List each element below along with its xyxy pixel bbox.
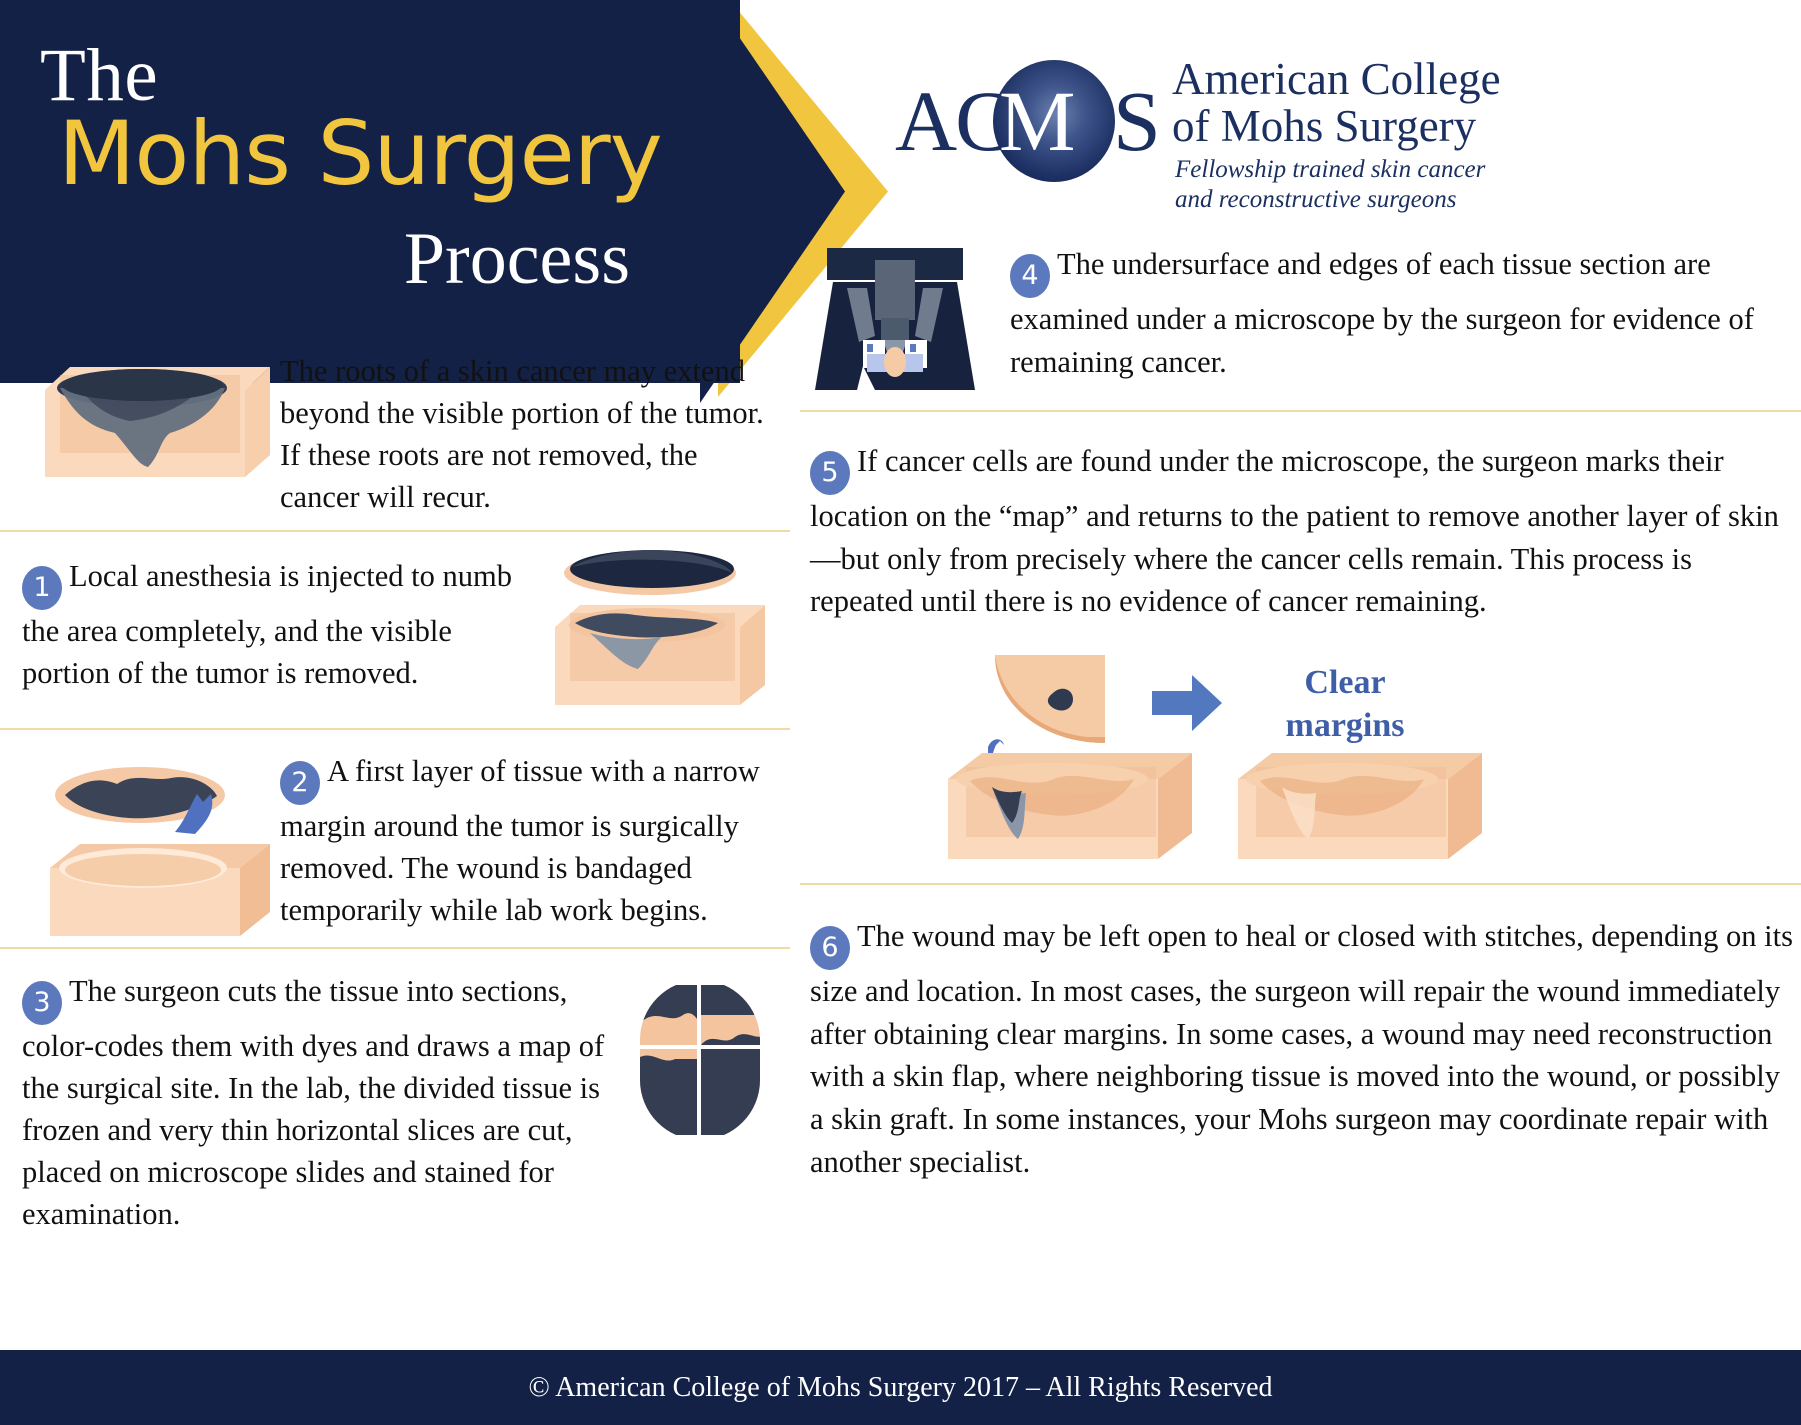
tumor-roots-illustration [20,355,270,485]
logo-tagline: Fellowship trained skin cancer and recon… [1175,155,1485,214]
footer-copyright: © American College of Mohs Surgery 2017 … [528,1372,1272,1404]
step-6-text: The wound may be left open to heal or cl… [810,919,1793,1179]
step-3-number-badge: 3 [22,981,62,1025]
skin-block-with-cancer-illustration [930,735,1200,865]
step-2-illustration [25,750,270,940]
step-1-text-wrap: 1Local anesthesia is injected to numb th… [22,555,512,694]
page-title-line3: Process [60,222,630,296]
divider-1 [0,530,790,532]
infographic-page: The Mohs Surgery Process AC M S American… [0,0,1801,1425]
step-2-text-wrap: 2A first layer of tissue with a narrow m… [280,750,775,931]
acms-logo: AC M S American College of Mohs Surgery … [895,42,1595,202]
step-3-illustration [635,985,765,1135]
divider-3 [0,947,790,949]
logo-name-line1: American College [1172,56,1501,103]
step-5-number-badge: 5 [810,451,850,495]
step-1-illustration [530,545,765,705]
step-5-text-wrap: 5If cancer cells are found under the mic… [810,440,1795,623]
divider-5 [800,883,1801,885]
step-2-number-badge: 2 [280,761,320,805]
divider-4 [800,410,1801,412]
logo-name-line2: of Mohs Surgery [1172,103,1501,150]
step-2-text: A first layer of tissue with a narrow ma… [280,754,760,927]
step-4-number-badge: 4 [1010,254,1050,298]
step-4-text-wrap: 4The undersurface and edges of each tiss… [1010,243,1800,383]
step-1-text: Local anesthesia is injected to numb the… [22,559,512,690]
intro-text: The roots of a skin cancer may extend be… [280,350,775,518]
step-3-text: The surgeon cuts the tissue into section… [22,974,604,1231]
logo-tagline-line2: and reconstructive surgeons [1175,185,1485,215]
step-3-text-wrap: 3The surgeon cuts the tissue into sectio… [22,970,622,1235]
page-title-line2: Mohs Surgery [58,110,662,198]
step-6-number-badge: 6 [810,926,850,970]
step-4-text: The undersurface and edges of each tissu… [1010,247,1754,379]
footer: © American College of Mohs Surgery 2017 … [0,1350,1801,1425]
left-column: The roots of a skin cancer may extend be… [0,340,790,1350]
step-1-number-badge: 1 [22,566,62,610]
divider-2 [0,728,790,730]
right-column: 4The undersurface and edges of each tiss… [800,215,1801,1350]
clear-margins-line1: Clear [1245,662,1445,705]
logo-acronym-s: S [1113,78,1159,164]
right-arrow-icon [1152,675,1222,731]
logo-organization-name: American College of Mohs Surgery [1172,56,1501,151]
logo-tagline-line1: Fellowship trained skin cancer [1175,155,1485,185]
step-5-text: If cancer cells are found under the micr… [810,444,1779,618]
skin-block-clear-margins-illustration [1220,735,1490,865]
microscope-illustration [805,240,985,390]
step-6-text-wrap: 6The wound may be left open to heal or c… [810,915,1795,1183]
logo-acronym-m: M [999,78,1073,164]
